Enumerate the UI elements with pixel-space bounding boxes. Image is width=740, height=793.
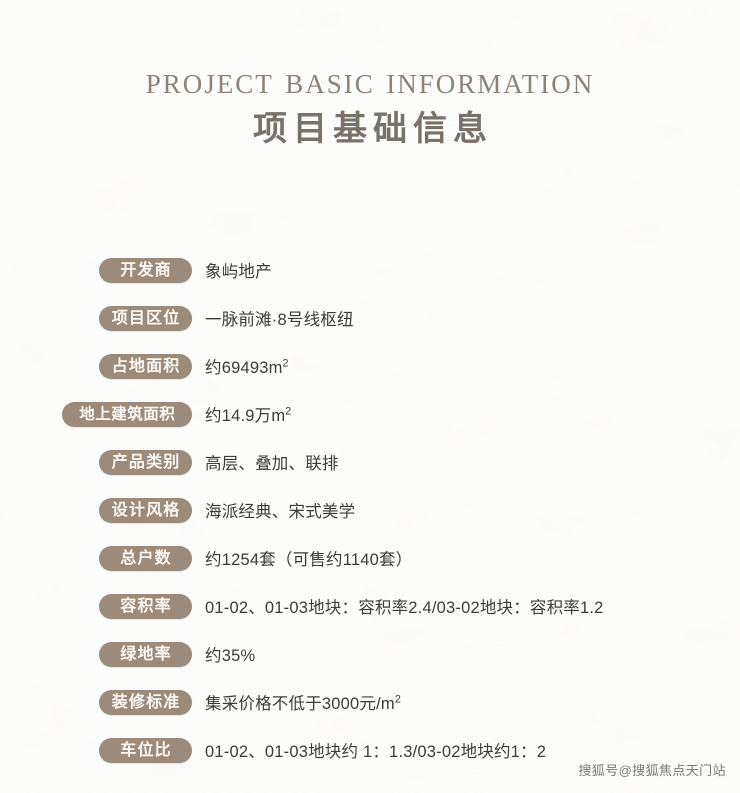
info-label-badge: 车位比 — [99, 738, 192, 763]
info-label-badge: 占地面积 — [99, 354, 192, 379]
info-label-cell: 设计风格 — [0, 498, 192, 523]
info-row: 绿地率约35% — [0, 630, 740, 678]
info-value: 约14.9万m2 — [192, 402, 291, 426]
info-value: 约35% — [192, 642, 255, 666]
info-value-text: 约14.9万m — [205, 407, 285, 425]
info-row: 占地面积约69493m2 — [0, 342, 740, 390]
info-value-text: 集采价格不低于3000元/m — [205, 695, 395, 713]
info-value: 01-02、01-03地块约 1：1.3/03-02地块约1：2 — [192, 738, 546, 762]
watermark: 搜狐号@搜狐焦点天门站 — [578, 760, 726, 779]
info-value: 01-02、01-03地块：容积率2.4/03-02地块：容积率1.2 — [192, 594, 604, 618]
info-label-cell: 产品类别 — [0, 450, 192, 475]
info-label-cell: 项目区位 — [0, 306, 192, 331]
info-label-badge: 装修标准 — [99, 690, 192, 715]
page-title-english: Project Basic Information — [0, 62, 740, 102]
info-value-text: 约69493m — [205, 359, 283, 377]
info-label-cell: 总户数 — [0, 546, 192, 571]
info-value: 约69493m2 — [192, 354, 289, 378]
info-label-badge: 设计风格 — [99, 498, 192, 523]
info-label-cell: 开发商 — [0, 258, 192, 283]
page-title-chinese: 项目基础信息 — [0, 110, 740, 151]
info-label-cell: 车位比 — [0, 738, 192, 763]
info-value: 集采价格不低于3000元/m2 — [192, 690, 401, 714]
info-row: 设计风格海派经典、宋式美学 — [0, 486, 740, 534]
info-value: 象屿地产 — [192, 258, 272, 282]
info-label-cell: 容积率 — [0, 594, 192, 619]
info-row: 项目区位一脉前滩·8号线枢纽 — [0, 294, 740, 342]
info-row: 装修标准集采价格不低于3000元/m2 — [0, 678, 740, 726]
page-title-block: Project Basic Information 项目基础信息 — [0, 62, 740, 151]
info-value: 约1254套（可售约1140套） — [192, 546, 412, 570]
info-value: 海派经典、宋式美学 — [192, 498, 355, 522]
info-label-badge: 开发商 — [99, 258, 192, 283]
info-label-badge: 绿地率 — [99, 642, 192, 667]
info-row: 容积率01-02、01-03地块：容积率2.4/03-02地块：容积率1.2 — [0, 582, 740, 630]
info-value-superscript: 2 — [395, 694, 401, 706]
info-label-cell: 占地面积 — [0, 354, 192, 379]
info-label-cell: 绿地率 — [0, 642, 192, 667]
info-label-cell: 地上建筑面积 — [0, 402, 192, 427]
info-value-superscript: 2 — [283, 358, 289, 370]
info-label-badge: 产品类别 — [99, 450, 192, 475]
info-label-cell: 装修标准 — [0, 690, 192, 715]
info-row: 地上建筑面积约14.9万m2 — [0, 390, 740, 438]
info-row: 总户数约1254套（可售约1140套） — [0, 534, 740, 582]
info-label-badge: 地上建筑面积 — [62, 402, 192, 427]
info-value-superscript: 2 — [285, 406, 291, 418]
info-label-badge: 容积率 — [99, 594, 192, 619]
info-value: 高层、叠加、联排 — [192, 450, 339, 474]
info-label-badge: 项目区位 — [99, 306, 192, 331]
info-row: 开发商象屿地产 — [0, 246, 740, 294]
info-row: 产品类别高层、叠加、联排 — [0, 438, 740, 486]
page-root: Project Basic Information 项目基础信息 开发商象屿地产… — [0, 0, 740, 793]
info-label-badge: 总户数 — [99, 546, 192, 571]
info-value: 一脉前滩·8号线枢纽 — [192, 306, 354, 330]
project-info-list: 开发商象屿地产项目区位一脉前滩·8号线枢纽占地面积约69493m2地上建筑面积约… — [0, 246, 740, 774]
